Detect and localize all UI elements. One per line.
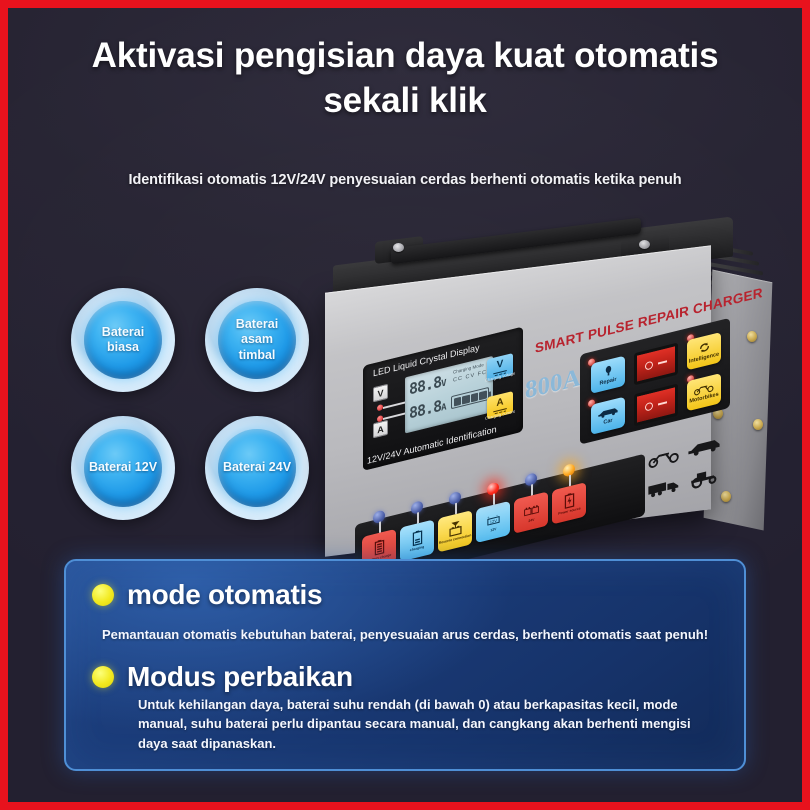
handle-screw-right: [639, 240, 650, 249]
info-section-repair-mode: Modus perbaikan Untuk kehilangan daya, b…: [92, 661, 718, 754]
indicator-power-source[interactable]: Power source: [552, 482, 586, 524]
lcd-button-v[interactable]: V: [373, 384, 388, 403]
led-wire: [379, 522, 381, 533]
amp-rating: 800A: [525, 364, 581, 406]
page-title: Aktivasi pengisian daya kuat otomatis se…: [8, 34, 802, 124]
power-rocker-bottom[interactable]: [634, 384, 678, 427]
bullet-dot-icon: [92, 584, 114, 606]
section-header: mode otomatis: [92, 579, 718, 611]
lcd-screen: 88.8V 88.8A Charging Mode CC CV FC TL: [405, 356, 493, 434]
mode-button-car[interactable]: Car: [591, 397, 625, 435]
car-icon: [687, 433, 721, 463]
tractor-icon: [687, 463, 721, 493]
motorbike-icon: [647, 442, 681, 472]
badge-label: Baterai biasa: [84, 325, 162, 356]
section-title: Modus perbaikan: [127, 661, 353, 693]
indicator-12v[interactable]: + − 12V 12V: [476, 501, 510, 543]
badge-label: Baterai 12V: [85, 460, 161, 475]
battery-24v-icon: [524, 501, 539, 520]
led-wire: [493, 494, 495, 505]
svg-text:12V: 12V: [489, 518, 496, 525]
badge-label: Baterai 24V: [219, 460, 295, 475]
power-rocker-top[interactable]: [634, 343, 678, 386]
badge-battery-12v: Baterai 12V: [71, 416, 175, 520]
badge-inner: Baterai 12V: [84, 429, 162, 507]
badge-inner: Baterai asam timbal: [218, 301, 296, 379]
mode-button-repair[interactable]: Repair: [591, 356, 625, 394]
section-title: mode otomatis: [127, 579, 322, 611]
page-subtitle: Identifikasi otomatis 12V/24V penyesuaia…: [8, 172, 802, 188]
badge-battery-normal: Baterai biasa: [71, 288, 175, 392]
lcd-battery-gauge: [451, 387, 489, 409]
info-panel: mode otomatis Pemantauan otomatis kebutu…: [64, 559, 746, 771]
battery-12v-icon: + − 12V: [486, 510, 501, 529]
indicator-charging[interactable]: charging: [400, 519, 434, 561]
lcd-wire-a: [383, 413, 405, 420]
truck-icon: [647, 472, 681, 502]
device-front-face: SMART PULSE REPAIR CHARGER 800A LED Liqu…: [325, 245, 711, 556]
section-body: Untuk kehilangan daya, baterai suhu rend…: [138, 695, 718, 754]
led-wire: [455, 503, 457, 514]
lcd-wire-v: [383, 402, 405, 409]
badge-battery-24v: Baterai 24V: [205, 416, 309, 520]
info-section-auto-mode: mode otomatis Pemantauan otomatis kebutu…: [92, 579, 718, 645]
lcd-module: LED Liquid Crystal Display 12V/24V Autom…: [363, 327, 523, 471]
lcd-voltage-reading: 88.8V: [409, 372, 446, 399]
badge-inner: Baterai biasa: [84, 301, 162, 379]
indicator-24v[interactable]: 24V: [514, 491, 548, 533]
badge-label: Baterai asam timbal: [218, 317, 296, 363]
indicator-reverse-connection[interactable]: Reverse connection: [438, 510, 472, 552]
lcd-button-a[interactable]: A: [373, 420, 388, 439]
bullet-dot-icon: [92, 666, 114, 688]
badge-inner: Baterai 24V: [218, 429, 296, 507]
badge-battery-lead-acid: Baterai asam timbal: [205, 288, 309, 392]
product-charger-device: SMART PULSE REPAIR CHARGER 800A LED Liqu…: [303, 223, 773, 548]
side-screw-1: [747, 331, 757, 342]
poster-canvas: Aktivasi pengisian daya kuat otomatis se…: [8, 8, 802, 802]
side-screw-3: [753, 419, 763, 430]
led-wire: [531, 484, 533, 495]
section-header: Modus perbaikan: [92, 661, 718, 693]
lcd-current-reading: 88.8A: [409, 396, 446, 423]
led-wire: [417, 512, 419, 523]
led-wire: [569, 475, 571, 486]
section-body: Pemantauan otomatis kebutuhan baterai, p…: [92, 625, 718, 645]
handle-screw-left: [393, 243, 404, 252]
side-screw-4: [721, 491, 731, 502]
